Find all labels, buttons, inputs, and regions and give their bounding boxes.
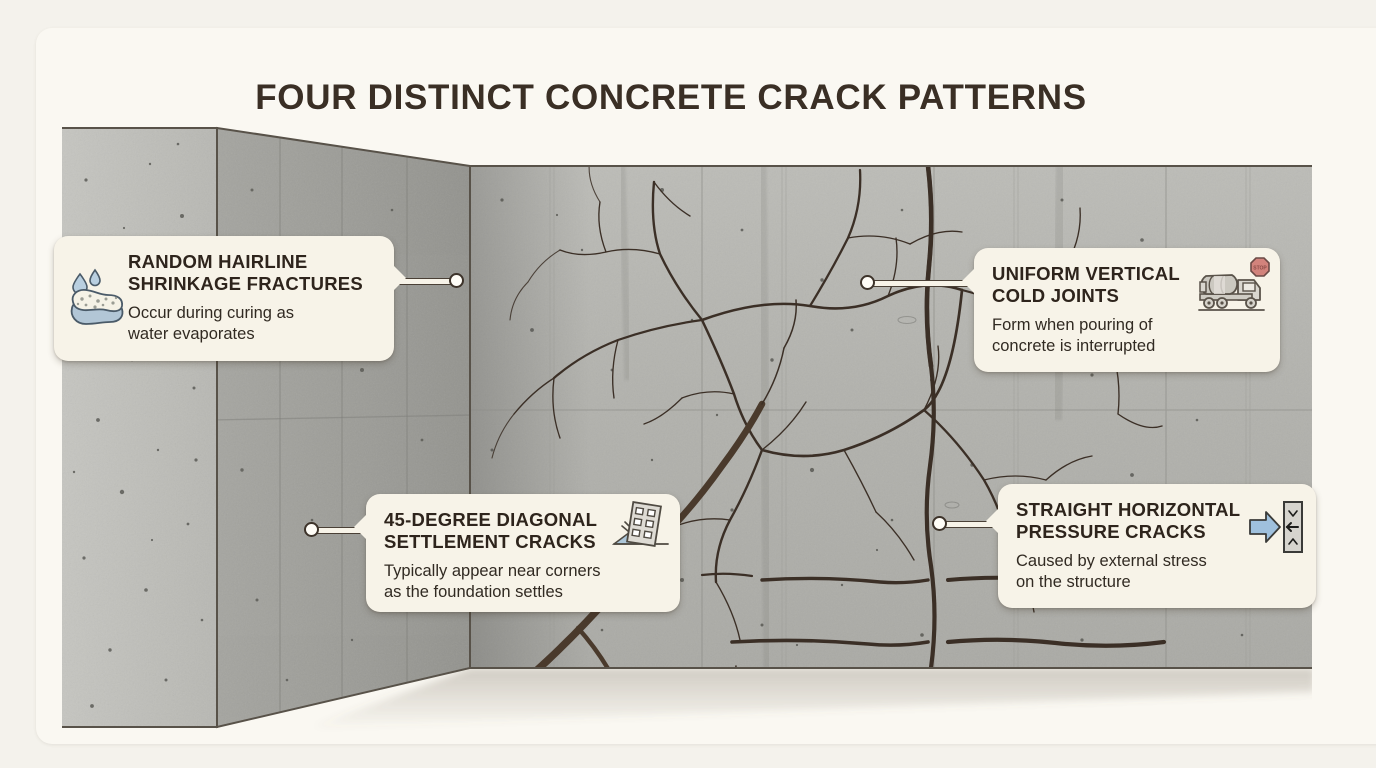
callout-title-settlement: 45-DEGREE DIAGONAL SETTLEMENT CRACKS [384, 509, 616, 552]
sponge-water-drops-icon [66, 268, 128, 335]
svg-text:STOP: STOP [1253, 266, 1267, 272]
callout-body-cold-joints: Form when pouring of concrete is interru… [992, 315, 1216, 357]
callout-card-shrinkage[interactable]: RANDOM HAIRLINE SHRINKAGE FRACTURES Occu… [54, 236, 394, 361]
connector-dot-settlement [304, 522, 319, 537]
wall-pressure-arrow-icon [1248, 498, 1306, 561]
wall-left-edge-face [62, 128, 217, 727]
callout-notch-pressure [986, 508, 999, 534]
callout-title-pressure: STRAIGHT HORIZONTAL PRESSURE CRACKS [1016, 499, 1252, 542]
callout-title-shrinkage: RANDOM HAIRLINE SHRINKAGE FRACTURES [128, 251, 376, 294]
wall-side-face [212, 120, 472, 740]
callout-notch-shrinkage [393, 265, 406, 291]
connector-dot-cold-joints [860, 275, 875, 290]
connector-dot-pressure [932, 516, 947, 531]
callout-card-settlement[interactable]: 45-DEGREE DIAGONAL SETTLEMENT CRACKS Typ… [366, 494, 680, 612]
connector-dot-shrinkage [449, 273, 464, 288]
callout-card-cold-joints[interactable]: STOP [974, 248, 1280, 372]
infographic-stage: FOUR DISTINCT CONCRETE CRACK PATTERNS [0, 0, 1376, 768]
callout-body-pressure: Caused by external stress on the structu… [1016, 551, 1252, 593]
callout-title-cold-joints: UNIFORM VERTICAL COLD JOINTS [992, 263, 1216, 306]
callout-notch-settlement [354, 514, 367, 540]
callout-notch-cold-joints [962, 268, 975, 294]
callout-body-settlement: Typically appear near corners as the fou… [384, 561, 616, 603]
concrete-wall-illustration [62, 120, 1312, 740]
page-title: FOUR DISTINCT CONCRETE CRACK PATTERNS [36, 78, 1306, 118]
callout-body-shrinkage: Occur during curing as water evaporates [128, 303, 376, 345]
callout-card-pressure[interactable]: STRAIGHT HORIZONTAL PRESSURE CRACKS Caus… [998, 484, 1316, 608]
wall-front-face [470, 158, 1312, 740]
tilting-building-sinking-icon [612, 500, 670, 557]
